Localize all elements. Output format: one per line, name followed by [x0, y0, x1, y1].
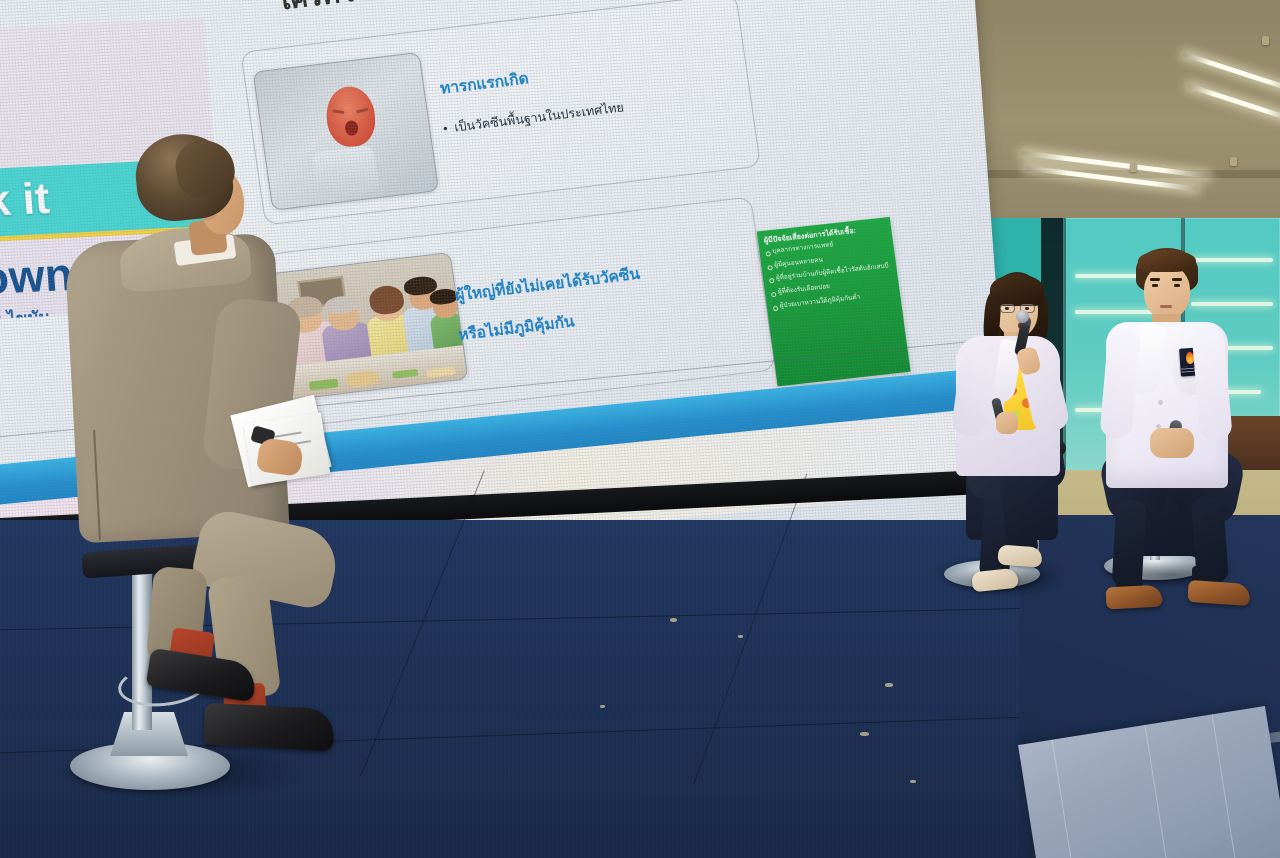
floor-debris: [910, 780, 916, 783]
interior-light: [1191, 258, 1273, 262]
baby-eye-left: [332, 109, 344, 114]
speaker-eye-right: [1025, 307, 1029, 310]
speaker-hand-left: [996, 412, 1018, 434]
sprinkler-icon: [1130, 163, 1137, 172]
doctor-shoe-left: [1105, 585, 1162, 610]
poster-line-3: down: [0, 247, 75, 307]
seminar-stage-photo: t's eak it down มาไข-ไขมัน ประเร ใครควรไ…: [0, 0, 1280, 858]
newborn-baby-photo: [253, 52, 440, 211]
poster-line-4: มาไข-ไขมัน: [0, 304, 51, 319]
speaker-eye-left: [1005, 307, 1009, 310]
baby-body: [312, 145, 380, 198]
speaker-shoe-right: [997, 544, 1042, 567]
doctor-clasped-hands: [1150, 428, 1194, 458]
doctor-eye-left: [1152, 284, 1158, 287]
cloth-fold: [1052, 740, 1078, 858]
sprinkler-icon: [1230, 157, 1237, 166]
floor-debris: [600, 705, 605, 708]
baby-eye-right: [356, 107, 368, 113]
carpet-seam: [360, 470, 790, 858]
doctor-mouth: [1160, 305, 1172, 308]
cloth-fold: [1144, 725, 1170, 858]
floor-debris: [670, 618, 677, 622]
floor-debris: [860, 732, 869, 736]
cloth-fold: [1212, 714, 1238, 858]
doctor-eyebrow-right: [1172, 278, 1182, 281]
doctor-hair-fringe: [1138, 250, 1196, 272]
interior-light: [1191, 302, 1273, 306]
doctor-eye-right: [1174, 284, 1180, 287]
risk-group-box: ผู้มีปัจจัยเสี่ยงต่อการได้รับเชื้อ: บุคล…: [757, 217, 911, 387]
floor-debris: [885, 683, 893, 687]
doctor-shoe-right: [1187, 580, 1250, 606]
moderator-shoe-front: [203, 703, 335, 752]
coat-button: [1158, 400, 1163, 405]
poster-line-2: eak it: [0, 174, 51, 229]
sprinkler-icon: [1262, 36, 1269, 45]
doctor-face: [1144, 266, 1190, 320]
baby-mouth: [344, 120, 358, 136]
floor-debris: [738, 635, 743, 638]
doctor-eyebrow-left: [1150, 278, 1160, 281]
